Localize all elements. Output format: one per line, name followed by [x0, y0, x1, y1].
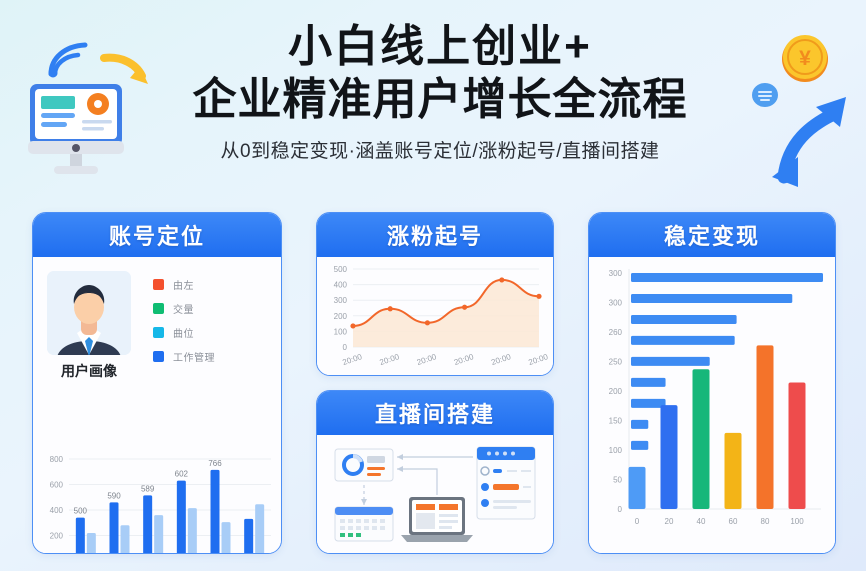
svg-text:400: 400 [334, 281, 348, 290]
svg-text:400: 400 [50, 506, 64, 515]
svg-text:602: 602 [175, 470, 189, 479]
persona-block: 用户画像 [47, 271, 131, 381]
legend: 由左 交量 曲位 工作管理 [153, 271, 215, 381]
svg-text:200: 200 [334, 312, 348, 321]
fans-line-chart: 010020030040050020:0020:0020:0020:0020:0… [317, 257, 553, 375]
svg-text:80: 80 [761, 517, 770, 526]
legend-swatch-icon [153, 303, 164, 314]
card-monetize-title: 稳定变现 [664, 219, 760, 251]
svg-text:260: 260 [609, 328, 623, 337]
legend-label: 交量 [173, 301, 194, 316]
legend-item: 由左 [153, 277, 215, 292]
svg-text:100: 100 [334, 327, 348, 336]
svg-text:500: 500 [74, 507, 88, 516]
legend-item: 交量 [153, 301, 215, 316]
legend-label: 工作管理 [173, 349, 215, 364]
hero-title-line-2: 企业精准用户增长全流程 [140, 74, 740, 126]
card-live-setup[interactable]: 直播间搭建 [316, 390, 554, 554]
live-dashboard-illustration [317, 435, 553, 553]
card-account-header: 账号定位 [33, 213, 281, 257]
legend-swatch-icon [153, 279, 164, 290]
card-fans-growth[interactable]: 涨粉起号 010020030040050020:0020:0020:0020:0… [316, 212, 554, 376]
svg-text:200: 200 [609, 387, 623, 396]
svg-text:40: 40 [697, 517, 706, 526]
poster-canvas: 小白线上创业+ 企业精准用户增长全流程 从0到稳定变现·涵盖账号定位/涨粉起号/… [0, 0, 866, 571]
svg-text:589: 589 [141, 484, 155, 493]
legend-swatch-icon [153, 351, 164, 362]
svg-text:0: 0 [618, 505, 623, 514]
svg-text:20:00: 20:00 [527, 352, 549, 367]
svg-text:590: 590 [107, 491, 121, 500]
persona-label: 用户画像 [47, 361, 131, 381]
card-account-title: 账号定位 [109, 219, 205, 251]
svg-text:500: 500 [334, 265, 348, 274]
svg-text:766: 766 [208, 459, 222, 468]
svg-text:300: 300 [609, 269, 623, 278]
account-bar-chart: 020040060080050020:0059019:0058919:00602… [33, 443, 281, 554]
svg-text:300: 300 [609, 299, 623, 308]
svg-text:300: 300 [334, 296, 348, 305]
svg-text:150: 150 [609, 417, 623, 426]
svg-text:60: 60 [729, 517, 738, 526]
svg-text:20:00: 20:00 [379, 352, 401, 367]
legend-item: 曲位 [153, 325, 215, 340]
legend-label: 由左 [173, 277, 194, 292]
hero-subtitle: 从0到稳定变现·涵盖账号定位/涨粉起号/直播间搭建 [140, 136, 740, 163]
svg-text:600: 600 [50, 481, 64, 490]
card-live-body [317, 435, 553, 553]
card-fans-body: 010020030040050020:0020:0020:0020:0020:0… [317, 257, 553, 375]
svg-text:20:00: 20:00 [341, 352, 363, 367]
svg-text:20:00: 20:00 [416, 352, 438, 367]
card-account-positioning[interactable]: 账号定位 [32, 212, 282, 554]
persona-row: 用户画像 由左 交量 曲位 [33, 257, 281, 381]
svg-text:50: 50 [613, 476, 622, 485]
yuan-coin-icon: ¥ [779, 32, 831, 84]
svg-text:0: 0 [343, 343, 348, 352]
card-fans-title: 涨粉起号 [387, 219, 483, 251]
card-account-body: 用户画像 由左 交量 曲位 [33, 257, 281, 553]
legend-swatch-icon [153, 327, 164, 338]
svg-text:20: 20 [665, 517, 674, 526]
hero-title-block: 小白线上创业+ 企业精准用户增长全流程 从0到稳定变现·涵盖账号定位/涨粉起号/… [140, 22, 740, 163]
legend-label: 曲位 [173, 325, 194, 340]
svg-text:20:00: 20:00 [490, 352, 512, 367]
svg-text:100: 100 [609, 446, 623, 455]
card-fans-header: 涨粉起号 [317, 213, 553, 257]
svg-text:¥: ¥ [799, 47, 811, 70]
svg-text:100: 100 [790, 517, 804, 526]
hero-title-line-1: 小白线上创业+ [140, 22, 740, 72]
monetize-combo-chart: 050100150200250260300300020406080100 [589, 257, 835, 553]
svg-text:0: 0 [635, 517, 640, 526]
svg-text:200: 200 [50, 532, 64, 541]
wifi-signal-icon [45, 40, 91, 80]
hero-section: 小白线上创业+ 企业精准用户增长全流程 从0到稳定变现·涵盖账号定位/涨粉起号/… [0, 0, 866, 200]
avatar [47, 271, 131, 355]
card-live-header: 直播间搭建 [317, 391, 553, 435]
svg-text:250: 250 [609, 358, 623, 367]
svg-text:20:00: 20:00 [453, 352, 475, 367]
card-monetize-header: 稳定变现 [589, 213, 835, 257]
card-live-title: 直播间搭建 [375, 397, 495, 429]
legend-item: 工作管理 [153, 349, 215, 364]
desktop-monitor-icon [24, 78, 134, 178]
svg-text:800: 800 [50, 455, 64, 464]
card-monetize-body: 050100150200250260300300020406080100 [589, 257, 835, 553]
card-monetization[interactable]: 稳定变现 05010015020025026030030002040608010… [588, 212, 836, 554]
double-curved-arrow-icon [770, 85, 852, 190]
